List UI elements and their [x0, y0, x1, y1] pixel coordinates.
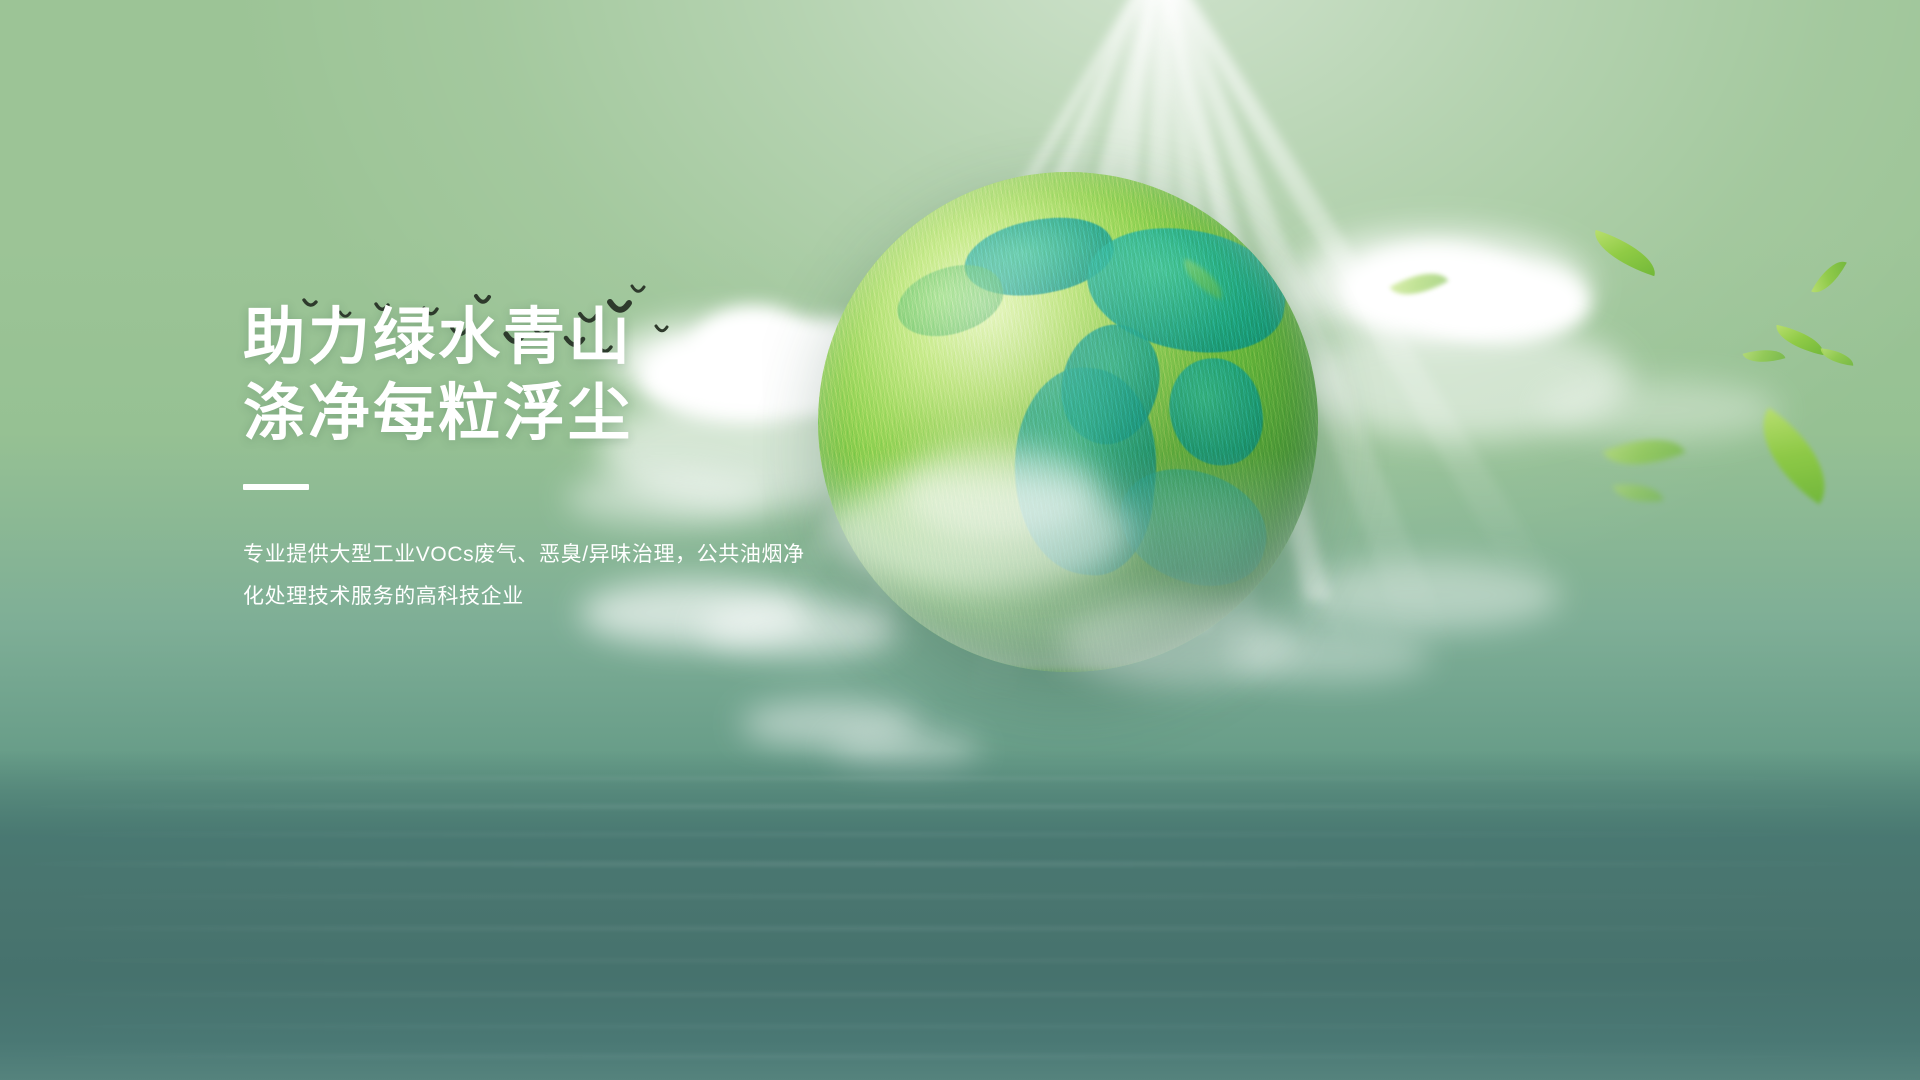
headline-line-1: 助力绿水青山 — [243, 300, 963, 376]
cloud-right-wisp — [1540, 380, 1780, 440]
headline-divider — [243, 484, 309, 490]
description-line-1: 专业提供大型工业VOCs废气、恶臭/异味治理，公共油烟净 — [243, 534, 783, 576]
hero-banner: 助力绿水青山 涤净每粒浮尘 专业提供大型工业VOCs废气、恶臭/异味治理，公共油… — [0, 0, 1920, 1080]
description-line-2: 化处理技术服务的高科技企业 — [243, 576, 783, 618]
water-streaks — [0, 750, 1920, 1080]
cloud-front-globe-3 — [1060, 600, 1300, 686]
hero-copy: 助力绿水青山 涤净每粒浮尘 专业提供大型工业VOCs废气、恶臭/异味治理，公共油… — [243, 300, 963, 618]
hero-description: 专业提供大型工业VOCs废气、恶臭/异味治理，公共油烟净 化处理技术服务的高科技… — [243, 534, 783, 618]
cloud-far-right — [1300, 560, 1560, 630]
headline-line-2: 涤净每粒浮尘 — [243, 376, 963, 452]
